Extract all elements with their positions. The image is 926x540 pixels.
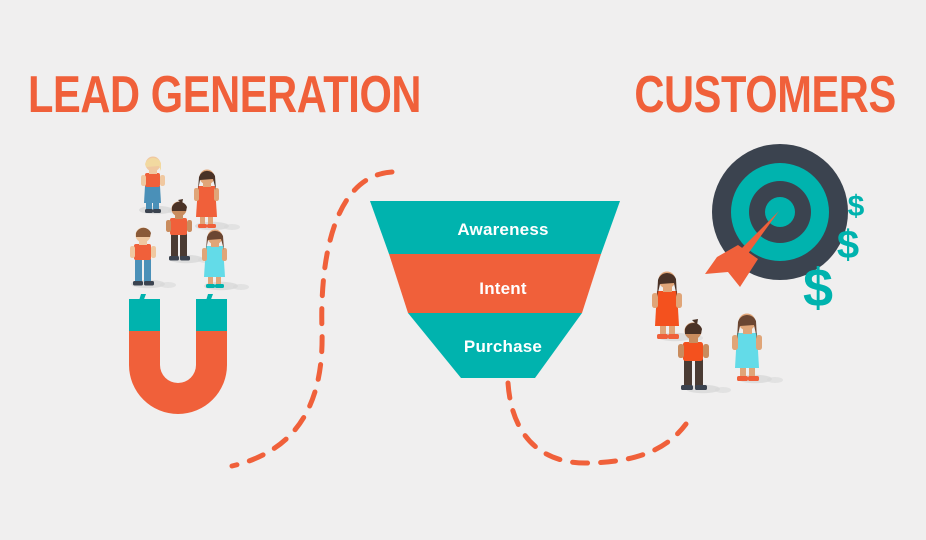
funnel-label-intent: Intent	[479, 279, 526, 299]
horseshoe-magnet	[129, 294, 227, 414]
person-customer-3	[732, 314, 783, 384]
leads-to-funnel-path	[232, 172, 392, 466]
infographic-canvas: LEAD GENERATION CUSTOMERS	[0, 0, 926, 540]
lead-people-group	[130, 157, 249, 291]
illustration-layer: $ $ $	[0, 0, 926, 540]
person-lead-2	[194, 170, 240, 231]
dollar-sign-medium: $	[837, 223, 859, 267]
funnel-label-purchase: Purchase	[464, 337, 542, 357]
person-customer-2	[678, 319, 731, 393]
customer-people-group	[652, 272, 783, 394]
funnel-label-awareness: Awareness	[457, 220, 548, 240]
funnel-to-customers-path	[508, 383, 686, 463]
dollar-sign-large: $	[803, 258, 833, 318]
dollar-sign-small: $	[848, 190, 865, 223]
person-lead-5	[202, 230, 249, 291]
